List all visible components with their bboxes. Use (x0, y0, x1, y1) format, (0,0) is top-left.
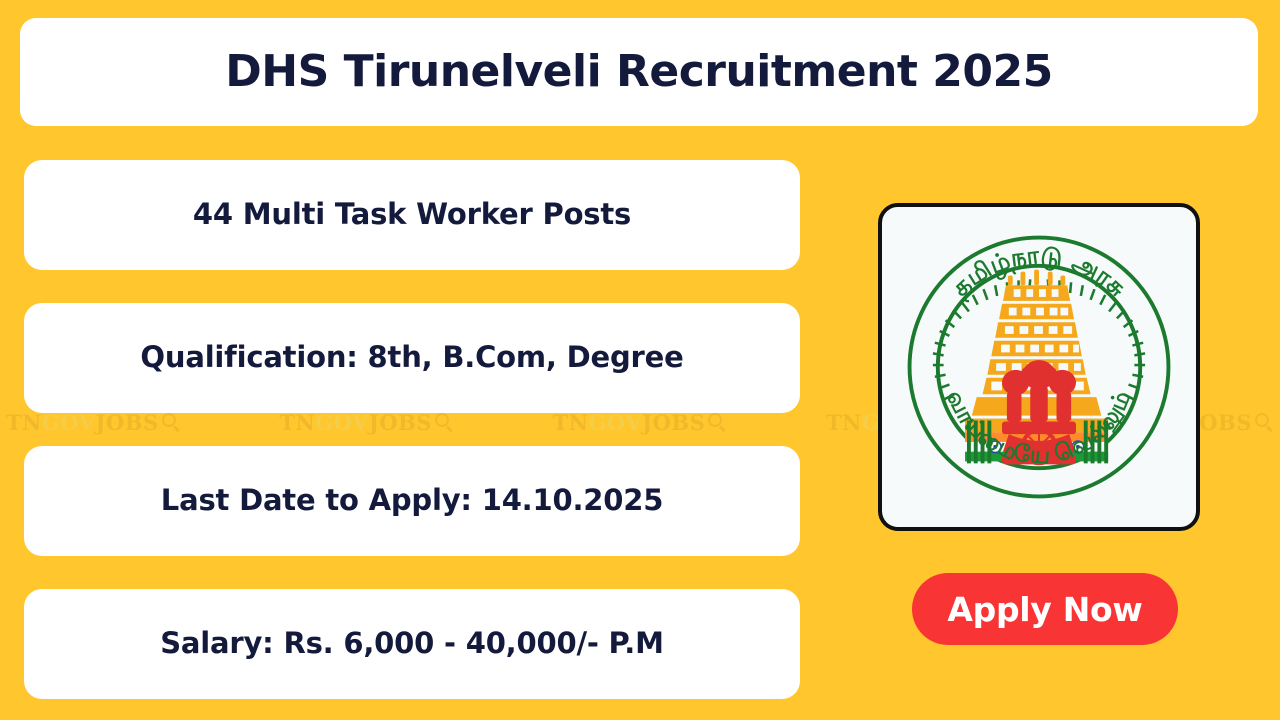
apply-now-button[interactable]: Apply Now (912, 573, 1178, 645)
apply-now-label: Apply Now (947, 590, 1142, 629)
watermark: TNGOVJOBS (6, 410, 181, 435)
info-card-qualification: Qualification: 8th, B.Com, Degree (24, 303, 800, 413)
info-card-text: 44 Multi Task Worker Posts (179, 198, 645, 231)
info-card-text: Last Date to Apply: 14.10.2025 (147, 484, 677, 517)
tamil-nadu-emblem-box: தமிழ்நாடு அரசு வாய்மையே வெல்லும் (878, 203, 1200, 531)
watermark-text: TNGOVJOBS (553, 410, 706, 435)
info-card-text: Qualification: 8th, B.Com, Degree (126, 341, 697, 374)
recruitment-poster: TNGOVJOBS TNGOVJOBS TNGOVJOBS TNGOVJOBS … (0, 0, 1280, 720)
watermark: TNGOVJOBS (553, 410, 728, 435)
info-card-salary: Salary: Rs. 6,000 - 40,000/- P.M (24, 589, 800, 699)
tamil-nadu-government-emblem-icon: தமிழ்நாடு அரசு வாய்மையே வெல்லும் (893, 217, 1185, 517)
magnifier-icon (1255, 413, 1274, 432)
magnifier-icon (435, 413, 454, 432)
info-card-text: Salary: Rs. 6,000 - 40,000/- P.M (146, 627, 678, 660)
watermark-text: TNGOVJOBS (6, 410, 159, 435)
watermark: TNGOVJOBS (279, 410, 454, 435)
watermark-text: TNGOVJOBS (279, 410, 432, 435)
page-title: DHS Tirunelveli Recruitment 2025 (225, 50, 1053, 94)
info-card-vacancies: 44 Multi Task Worker Posts (24, 160, 800, 270)
magnifier-icon (162, 413, 181, 432)
info-card-last-date: Last Date to Apply: 14.10.2025 (24, 446, 800, 556)
title-card: DHS Tirunelveli Recruitment 2025 (20, 18, 1258, 126)
magnifier-icon (708, 413, 727, 432)
